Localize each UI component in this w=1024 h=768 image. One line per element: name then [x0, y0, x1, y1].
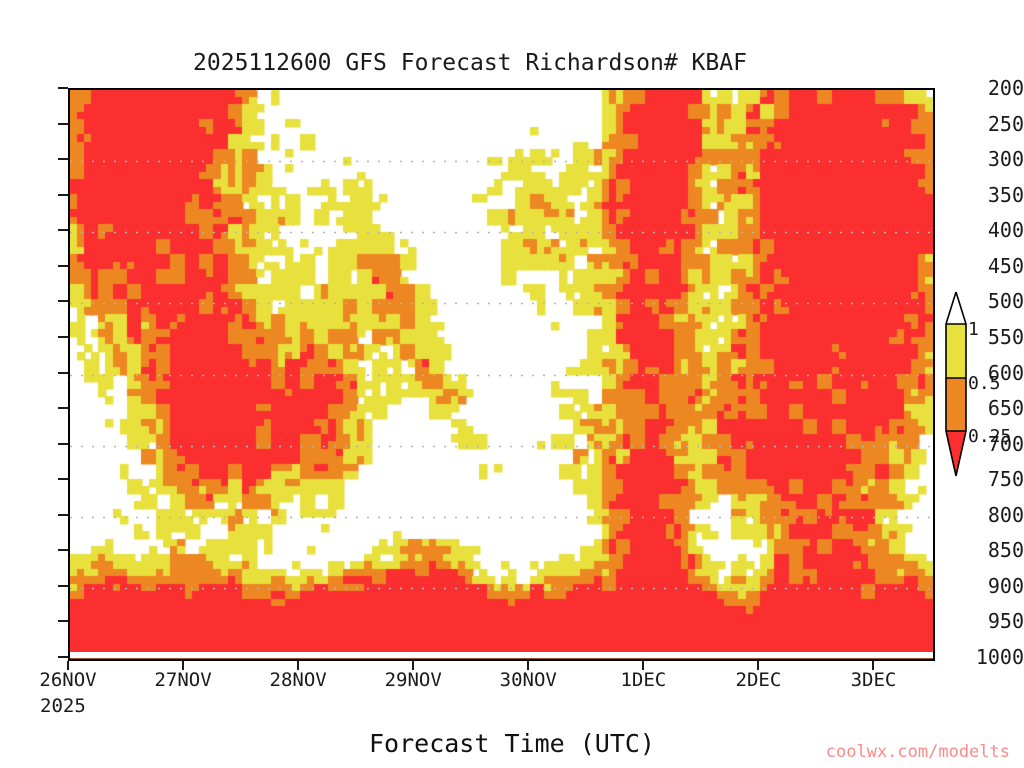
y-tick-label-450: 450	[968, 256, 1024, 276]
y-tick-mark-400	[58, 229, 68, 231]
y-tick-label-950: 950	[968, 611, 1024, 631]
y-tick-label-300: 300	[968, 149, 1024, 169]
y-tick-label-250: 250	[968, 114, 1024, 134]
y-tick-label-900: 900	[968, 576, 1024, 596]
x-tick-mark-2DEC	[757, 661, 759, 670]
y-tick-label-350: 350	[968, 185, 1024, 205]
x-tick-label-2DEC: 2DEC	[698, 671, 818, 690]
colorbar-above-arrow	[946, 292, 966, 324]
y-tick-mark-350	[58, 194, 68, 196]
x-tick-mark-3DEC	[872, 661, 874, 670]
y-tick-mark-300	[58, 158, 68, 160]
x-tick-mark-27NOV	[182, 661, 184, 670]
x-tick-label-3DEC: 3DEC	[813, 671, 933, 690]
x-tick-mark-29NOV	[412, 661, 414, 670]
x-tick-label-30NOV: 30NOV	[468, 671, 588, 690]
colorbar-label-025: 0.25	[968, 428, 1011, 446]
y-tick-mark-650	[58, 407, 68, 409]
y-tick-label-400: 400	[968, 220, 1024, 240]
x-tick-mark-30NOV	[527, 661, 529, 670]
y-tick-mark-850	[58, 549, 68, 551]
x-tick-label-29NOV: 29NOV	[353, 671, 473, 690]
y-tick-label-800: 800	[968, 505, 1024, 525]
y-tick-mark-900	[58, 585, 68, 587]
y-tick-mark-250	[58, 123, 68, 125]
y-tick-mark-600	[58, 372, 68, 374]
chart-plot-area[interactable]	[68, 88, 935, 661]
y-tick-mark-200	[58, 87, 68, 89]
page-title: 2025112600 GFS Forecast Richardson# KBAF	[0, 50, 940, 76]
colorbar-legend[interactable]: 1 0.5 0.25	[938, 288, 978, 484]
colorbar-band-orange	[946, 378, 966, 431]
x-tick-label-1DEC: 1DEC	[583, 671, 703, 690]
y-tick-label-850: 850	[968, 540, 1024, 560]
x-tick-label-28NOV: 28NOV	[238, 671, 358, 690]
x-tick-label-26NOV: 26NOV	[8, 671, 128, 690]
y-tick-mark-750	[58, 478, 68, 480]
site-watermark: coolwx.com/modelts	[826, 742, 1010, 762]
y-tick-mark-800	[58, 514, 68, 516]
colorbar-label-1: 1	[968, 321, 979, 339]
x-tick-mark-1DEC	[642, 661, 644, 670]
y-tick-mark-550	[58, 336, 68, 338]
x-tick-label-27NOV: 27NOV	[123, 671, 243, 690]
y-tick-label-200: 200	[968, 78, 1024, 98]
colorbar-below-arrow	[946, 431, 966, 476]
x-axis-year-label: 2025	[40, 695, 86, 717]
colorbar-band-yellow	[946, 324, 966, 378]
colorbar-label-05: 0.5	[968, 375, 1001, 393]
x-tick-mark-28NOV	[297, 661, 299, 670]
y-tick-mark-450	[58, 265, 68, 267]
y-tick-mark-950	[58, 620, 68, 622]
y-tick-mark-1000	[58, 656, 68, 658]
richardson-heatmap-canvas	[70, 90, 933, 659]
y-tick-mark-500	[58, 300, 68, 302]
x-tick-mark-26NOV	[67, 661, 69, 670]
y-tick-label-1000: 1000	[968, 647, 1024, 667]
y-tick-mark-700	[58, 443, 68, 445]
